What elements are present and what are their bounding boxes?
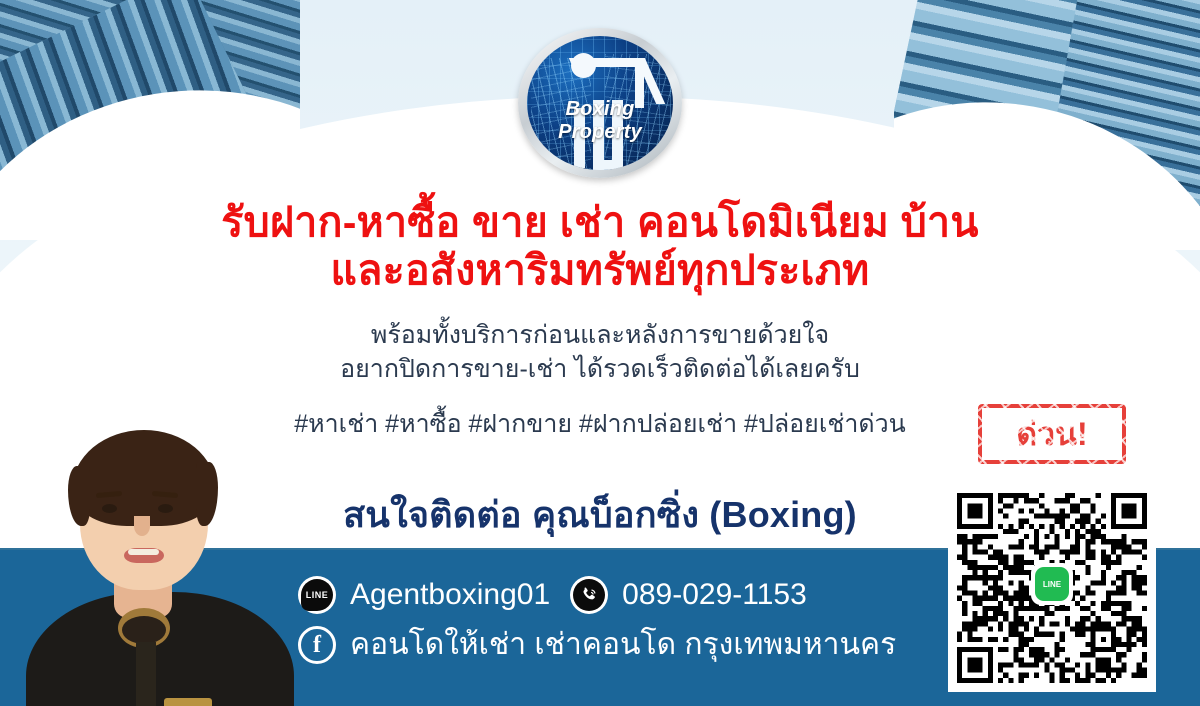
line-icon[interactable]: LINE bbox=[298, 576, 336, 614]
phone-icon[interactable] bbox=[570, 576, 608, 614]
portrait-eye-left bbox=[102, 504, 117, 513]
facebook-page-value: คอนโดให้เช่า เช่าคอนโด กรุงเทพมหานคร bbox=[350, 627, 896, 663]
line-icon-label: LINE bbox=[301, 579, 333, 611]
portrait-shirt-placket bbox=[136, 642, 156, 706]
headline-line-2: และอสังหาริมทรัพย์ทุกประเภท bbox=[0, 246, 1200, 294]
subheading-line-1: พร้อมทั้งบริการก่อนและหลังการขายด้วยใจ bbox=[0, 318, 1200, 352]
contact-row-facebook: f คอนโดให้เช่า เช่าคอนโด กรุงเทพมหานคร bbox=[298, 620, 896, 670]
line-id-value: Agentboxing01 bbox=[350, 577, 550, 613]
portrait-hair-left bbox=[68, 466, 90, 526]
portrait-badge bbox=[164, 698, 212, 706]
qr-code-panel[interactable]: LINE bbox=[948, 484, 1156, 692]
portrait-eye-right bbox=[158, 504, 173, 513]
facebook-icon[interactable]: f bbox=[298, 626, 336, 664]
facebook-icon-label: f bbox=[313, 632, 321, 659]
portrait-collar-inner bbox=[122, 616, 166, 644]
qr-line-badge: LINE bbox=[1031, 563, 1073, 605]
portrait-nose bbox=[134, 516, 150, 536]
headline: รับฝาก-หาซื้อ ขาย เช่า คอนโดมิเนียม บ้าน… bbox=[0, 198, 1200, 294]
phone-number-value: 089-029-1153 bbox=[622, 577, 807, 613]
headline-line-1: รับฝาก-หาซื้อ ขาย เช่า คอนโดมิเนียม บ้าน bbox=[0, 198, 1200, 246]
contact-row-line: LINE Agentboxing01 089-029-1153 bbox=[298, 570, 896, 620]
subheading-line-2: อยากปิดการขาย-เช่า ได้รวดเร็วติดต่อได้เล… bbox=[0, 352, 1200, 386]
urgent-stamp-label: ด่วน! bbox=[1016, 417, 1087, 451]
portrait-hair bbox=[72, 430, 216, 526]
logo-wordmark: Boxing Property bbox=[527, 98, 673, 144]
urgent-stamp: ด่วน! bbox=[978, 404, 1126, 464]
phone-icon-glyph bbox=[573, 579, 605, 611]
agent-portrait bbox=[18, 412, 304, 706]
line-qr-code[interactable]: LINE bbox=[957, 493, 1147, 683]
portrait-hair-right bbox=[196, 462, 218, 526]
subheading: พร้อมทั้งบริการก่อนและหลังการขายด้วยใจ อ… bbox=[0, 318, 1200, 386]
qr-line-badge-label: LINE bbox=[1035, 567, 1069, 601]
logo-disc: Boxing Property bbox=[527, 36, 673, 170]
contact-rows: LINE Agentboxing01 089-029-1153 f คอนโดใ… bbox=[298, 570, 896, 670]
brand-logo: Boxing Property bbox=[518, 28, 682, 178]
portrait-teeth bbox=[128, 549, 159, 555]
logo-bar-4 bbox=[593, 160, 623, 170]
poster-canvas: Boxing Property รับฝาก-หาซื้อ ขาย เช่า ค… bbox=[0, 0, 1200, 706]
